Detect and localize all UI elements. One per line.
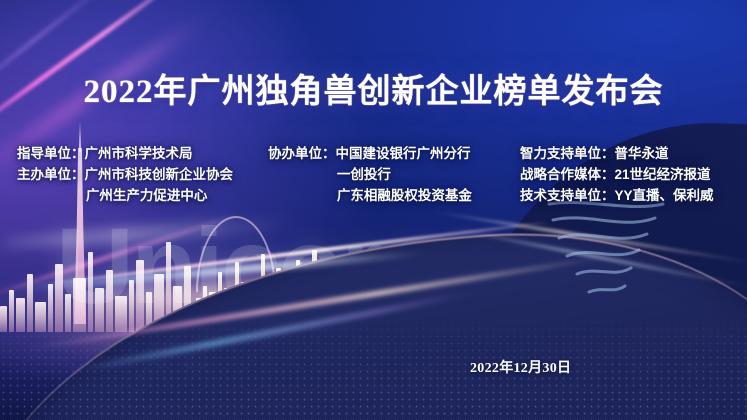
credit-value: 普华永道 — [615, 146, 669, 161]
credit-row: 战略合作媒体：21世纪经济报道 — [520, 164, 714, 185]
credit-row: 主办单位：广州市科技创新企业协会 — [17, 164, 233, 185]
credit-value: 广州生产力促进中心 — [86, 188, 208, 203]
credit-value: 中国建设银行广州分行 — [336, 146, 471, 161]
credit-value: 一创投行 — [337, 167, 391, 182]
credit-label: 主办单位： — [17, 167, 85, 182]
credit-label: 技术支持单位： — [520, 188, 615, 203]
event-date: 2022年12月30日 — [470, 357, 571, 377]
credit-row: 指导单位：广州市科学技术局 — [17, 143, 233, 164]
credits-column-left: 指导单位：广州市科学技术局 主办单位：广州市科技创新企业协会 广州生产力促进中心 — [17, 143, 233, 206]
credit-label: 指导单位： — [17, 146, 85, 161]
credit-value: YY直播、保利威 — [615, 188, 714, 203]
page-title: 2022年广州独角兽创新企业榜单发布会 — [0, 72, 747, 112]
credit-value: 广州市科技创新企业协会 — [85, 167, 234, 182]
credit-row: 技术支持单位：YY直播、保利威 — [520, 185, 714, 206]
credit-label: 协办单位： — [268, 146, 336, 161]
credit-row: 一创投行 — [268, 164, 472, 185]
credit-row: 广州生产力促进中心 — [17, 185, 233, 206]
credit-value: 广东相融股权投资基金 — [337, 188, 472, 203]
credit-row: 广东相融股权投资基金 — [268, 185, 472, 206]
poster-content: 2022年广州独角兽创新企业榜单发布会 指导单位：广州市科学技术局 主办单位：广… — [0, 0, 747, 420]
credit-label: 战略合作媒体： — [520, 167, 615, 182]
credit-row: 智力支持单位：普华永道 — [520, 143, 714, 164]
credits-block: 指导单位：广州市科学技术局 主办单位：广州市科技创新企业协会 广州生产力促进中心… — [0, 143, 747, 209]
event-poster: Unicorns — [0, 0, 747, 420]
credit-value: 21世纪经济报道 — [615, 167, 711, 182]
credit-value: 广州市科学技术局 — [85, 146, 193, 161]
credits-column-right: 智力支持单位：普华永道 战略合作媒体：21世纪经济报道 技术支持单位：YY直播、… — [520, 143, 714, 206]
credits-column-middle: 协办单位：中国建设银行广州分行 一创投行 广东相融股权投资基金 — [268, 143, 472, 206]
credit-row: 协办单位：中国建设银行广州分行 — [268, 143, 472, 164]
credit-label: 智力支持单位： — [520, 146, 615, 161]
